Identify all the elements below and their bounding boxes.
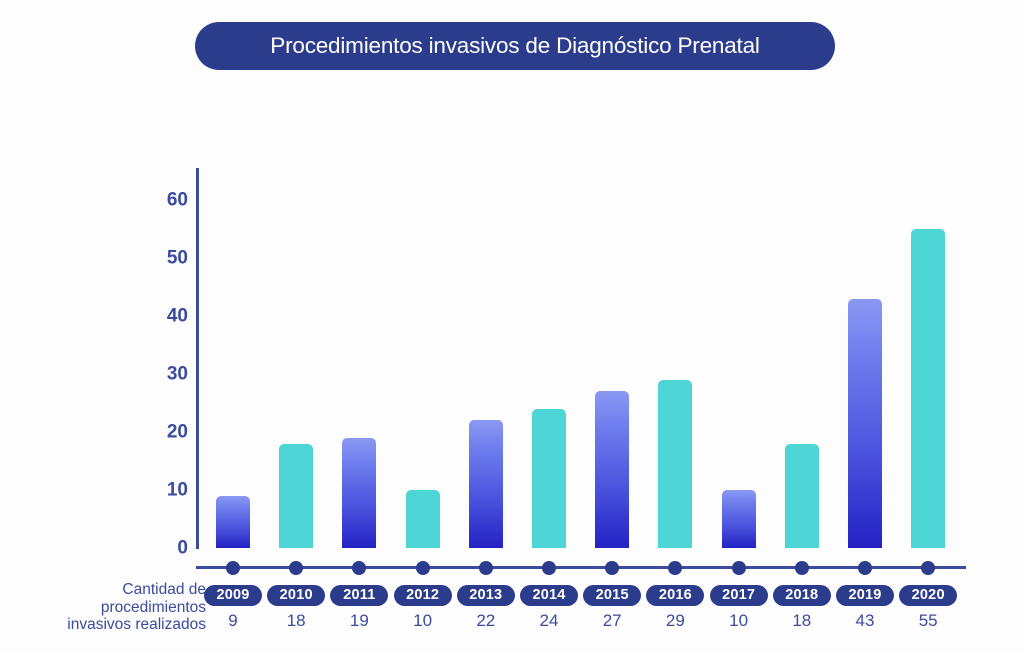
- x-axis-line: [196, 566, 966, 569]
- axis-dot-2013: [479, 561, 493, 575]
- axis-dot-2009: [226, 561, 240, 575]
- bar-2017[interactable]: [722, 490, 756, 548]
- bar-2016[interactable]: [658, 380, 692, 548]
- value-cell-2014: 24: [519, 612, 579, 629]
- year-pill-label: 2009: [216, 588, 249, 603]
- year-pill-2010[interactable]: 2010: [267, 585, 325, 606]
- year-pill-label: 2013: [469, 588, 502, 603]
- value-cell-2020: 55: [898, 612, 958, 629]
- axis-dot-2011: [352, 561, 366, 575]
- value-cell-2013: 22: [456, 612, 516, 629]
- axis-dot-2012: [416, 561, 430, 575]
- year-pill-2020[interactable]: 2020: [899, 585, 957, 606]
- value-cell-2019: 43: [835, 612, 895, 629]
- bar-2018[interactable]: [785, 444, 819, 548]
- year-pill-label: 2015: [596, 588, 629, 603]
- axis-dot-2017: [732, 561, 746, 575]
- year-pill-label: 2016: [659, 588, 692, 603]
- bar-2015[interactable]: [595, 391, 629, 548]
- year-pill-2018[interactable]: 2018: [773, 585, 831, 606]
- year-pill-label: 2020: [912, 588, 945, 603]
- value-cell-2011: 19: [329, 612, 389, 629]
- chart-plot-area: 0102030405060: [0, 0, 1024, 653]
- bar-2020[interactable]: [911, 229, 945, 548]
- value-row-label: Cantidad de procedimientos invasivos rea…: [20, 581, 206, 634]
- year-pill-label: 2017: [722, 588, 755, 603]
- axis-dot-2014: [542, 561, 556, 575]
- bar-2013[interactable]: [469, 420, 503, 548]
- year-pill-2011[interactable]: 2011: [330, 585, 388, 606]
- year-pill-label: 2019: [848, 588, 881, 603]
- year-pill-label: 2012: [406, 588, 439, 603]
- year-pill-label: 2014: [532, 588, 565, 603]
- axis-dot-2016: [668, 561, 682, 575]
- value-cell-2015: 27: [582, 612, 642, 629]
- year-pill-2016[interactable]: 2016: [646, 585, 704, 606]
- bar-2009[interactable]: [216, 496, 250, 548]
- value-cell-2016: 29: [645, 612, 705, 629]
- year-pill-2017[interactable]: 2017: [710, 585, 768, 606]
- value-cell-2018: 18: [772, 612, 832, 629]
- year-pill-label: 2011: [343, 588, 375, 603]
- value-cell-2017: 10: [709, 612, 769, 629]
- axis-dot-2015: [605, 561, 619, 575]
- bar-2011[interactable]: [342, 438, 376, 548]
- value-row-label-line-2: procedimientos: [20, 599, 206, 617]
- year-pill-2019[interactable]: 2019: [836, 585, 894, 606]
- bar-2010[interactable]: [279, 444, 313, 548]
- year-pill-2015[interactable]: 2015: [583, 585, 641, 606]
- value-cell-2010: 18: [266, 612, 326, 629]
- axis-dot-2018: [795, 561, 809, 575]
- axis-dot-2019: [858, 561, 872, 575]
- value-cell-2009: 9: [203, 612, 263, 629]
- bars-layer: [0, 0, 1024, 653]
- value-cell-2012: 10: [393, 612, 453, 629]
- year-pill-2012[interactable]: 2012: [394, 585, 452, 606]
- bar-2012[interactable]: [406, 490, 440, 548]
- axis-dot-2010: [289, 561, 303, 575]
- value-row-label-line-1: Cantidad de: [20, 581, 206, 599]
- year-pill-2013[interactable]: 2013: [457, 585, 515, 606]
- year-pill-2014[interactable]: 2014: [520, 585, 578, 606]
- year-pill-label: 2018: [785, 588, 818, 603]
- value-row-label-line-3: invasivos realizados: [20, 616, 206, 634]
- axis-dot-2020: [921, 561, 935, 575]
- year-pill-2009[interactable]: 2009: [204, 585, 262, 606]
- bar-2019[interactable]: [848, 299, 882, 548]
- bar-2014[interactable]: [532, 409, 566, 548]
- year-pill-label: 2010: [280, 588, 313, 603]
